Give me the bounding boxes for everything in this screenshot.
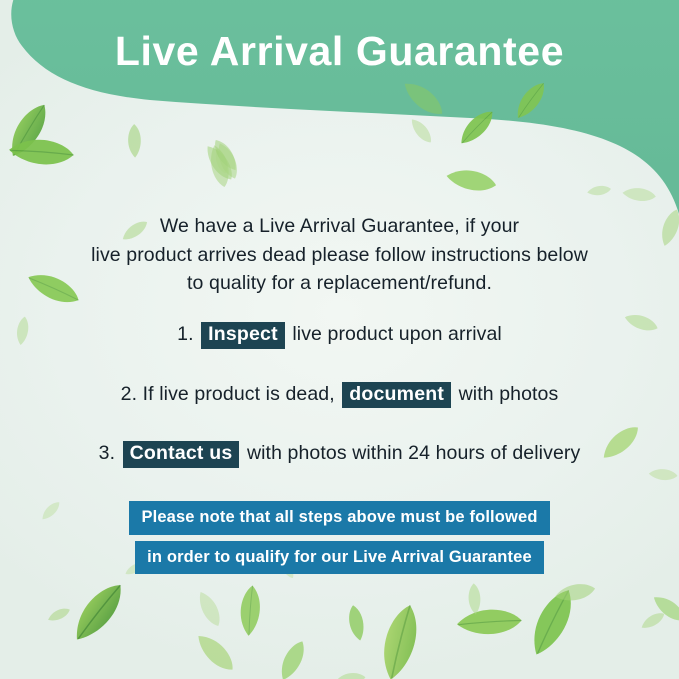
intro-line-2: live product arrives dead please follow …	[0, 241, 679, 270]
step-3-number: 3.	[99, 442, 115, 464]
step-1-text-after: live product upon arrival	[292, 323, 502, 345]
step-1-highlight-inspect: Inspect	[201, 322, 285, 349]
notice-bar-line-2: in order to qualify for our Live Arrival…	[135, 541, 544, 575]
notice-bar-line-1: Please note that all steps above must be…	[129, 501, 549, 535]
step-2-highlight-document: document	[342, 382, 451, 409]
step-item-2: 2. If live product is dead, document wit…	[0, 382, 679, 409]
steps-list: 1. Inspect live product upon arrival 2. …	[0, 322, 679, 468]
step-item-3: 3. Contact us with photos within 24 hour…	[0, 441, 679, 468]
step-2-number: 2.	[121, 383, 137, 405]
step-3-text-after: with photos within 24 hours of delivery	[247, 442, 580, 464]
page-title: Live Arrival Guarantee	[0, 29, 679, 75]
notice-row-1: Please note that all steps above must be…	[0, 501, 679, 535]
step-1-number: 1.	[177, 323, 193, 345]
intro-paragraph: We have a Live Arrival Guarantee, if you…	[0, 212, 679, 298]
notice-block: Please note that all steps above must be…	[0, 501, 679, 574]
step-item-1: 1. Inspect live product upon arrival	[0, 322, 679, 349]
intro-line-3: to quality for a replacement/refund.	[0, 269, 679, 298]
step-2-text-after: with photos	[459, 383, 559, 405]
step-3-highlight-contact-us: Contact us	[123, 441, 240, 468]
step-2-text-before: If live product is dead,	[143, 383, 335, 405]
live-arrival-guarantee-poster: Live Arrival Guarantee	[0, 0, 679, 679]
intro-line-1: We have a Live Arrival Guarantee, if you…	[0, 212, 679, 241]
notice-row-2: in order to qualify for our Live Arrival…	[0, 541, 679, 575]
